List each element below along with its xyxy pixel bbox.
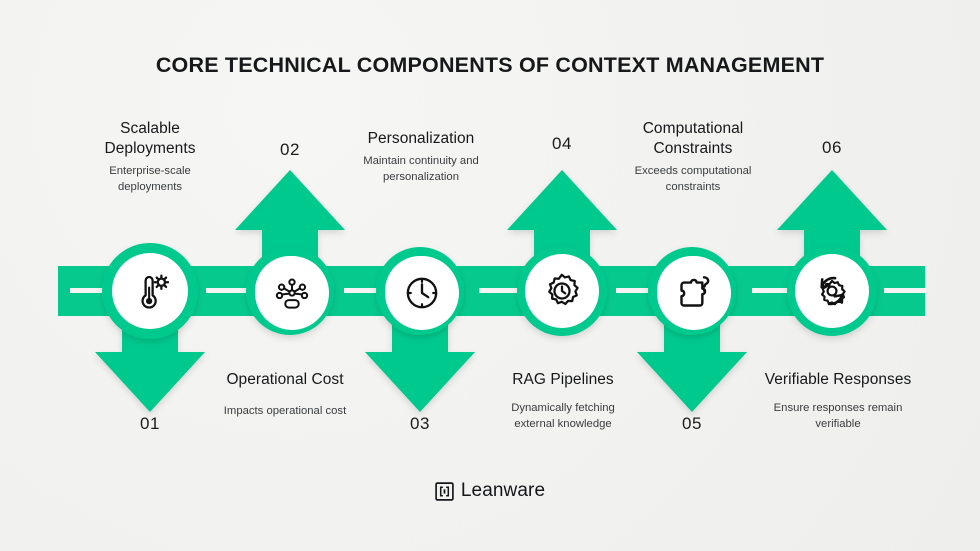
label-heading: Scalable Deployments <box>55 119 245 159</box>
label-subtitle: Dynamically fetching external knowledge <box>468 401 658 432</box>
label-operational-cost: Operational Cost Impacts operational cos… <box>192 370 378 420</box>
step-icon-02[interactable] <box>255 256 329 330</box>
puzzle-question-icon <box>674 273 714 313</box>
label-subtitle: Impacts operational cost <box>192 404 378 420</box>
label-personalization: Personalization Maintain continuity and … <box>325 129 517 185</box>
band-dash <box>479 288 521 293</box>
band-dash <box>884 288 926 293</box>
step-icon-04[interactable] <box>525 254 599 328</box>
label-heading: Verifiable Responses <box>740 370 936 390</box>
label-verifiable-responses: Verifiable Responses Ensure responses re… <box>740 370 936 432</box>
infographic-canvas: CORE TECHNICAL COMPONENTS OF CONTEXT MAN… <box>0 0 980 551</box>
step-icon-05[interactable] <box>657 256 731 330</box>
label-heading: Personalization <box>325 129 517 149</box>
label-heading: Operational Cost <box>192 370 378 390</box>
label-heading: Computational Constraints <box>595 119 791 159</box>
step-icon-01[interactable] <box>113 254 187 328</box>
step-number-03: 03 <box>380 414 460 434</box>
gear-refresh-icon <box>811 270 853 312</box>
label-rag-pipelines: RAG Pipelines Dynamically fetching exter… <box>468 370 658 432</box>
label-heading: RAG Pipelines <box>468 370 658 390</box>
label-subtitle: Maintain continuity and personalization <box>325 154 517 185</box>
step-number-04: 04 <box>522 134 602 154</box>
step-icon-06[interactable] <box>795 254 869 328</box>
gear-clock-icon <box>541 270 583 312</box>
brand-footer: Leanware <box>0 480 980 502</box>
brand-name: Leanware <box>461 480 545 502</box>
step-number-05: 05 <box>652 414 732 434</box>
bracket-square-logo-icon <box>435 482 454 501</box>
label-computational-constraints: Computational Constraints Exceeds comput… <box>595 119 791 195</box>
label-subtitle: Enterprise-scale deployments <box>55 164 245 195</box>
band-dash <box>206 288 248 293</box>
label-subtitle: Exceeds computational constraints <box>595 164 791 195</box>
step-number-02: 02 <box>250 140 330 160</box>
step-icon-03[interactable] <box>385 256 459 330</box>
thermometer-sun-icon <box>129 270 171 312</box>
label-subtitle: Ensure responses remain verifiable <box>740 401 936 432</box>
step-number-06: 06 <box>792 138 872 158</box>
label-scalable-deployments: Scalable Deployments Enterprise-scale de… <box>55 119 245 195</box>
step-number-01: 01 <box>110 414 190 434</box>
network-nodes-icon <box>272 273 312 313</box>
clock-icon <box>402 273 442 313</box>
